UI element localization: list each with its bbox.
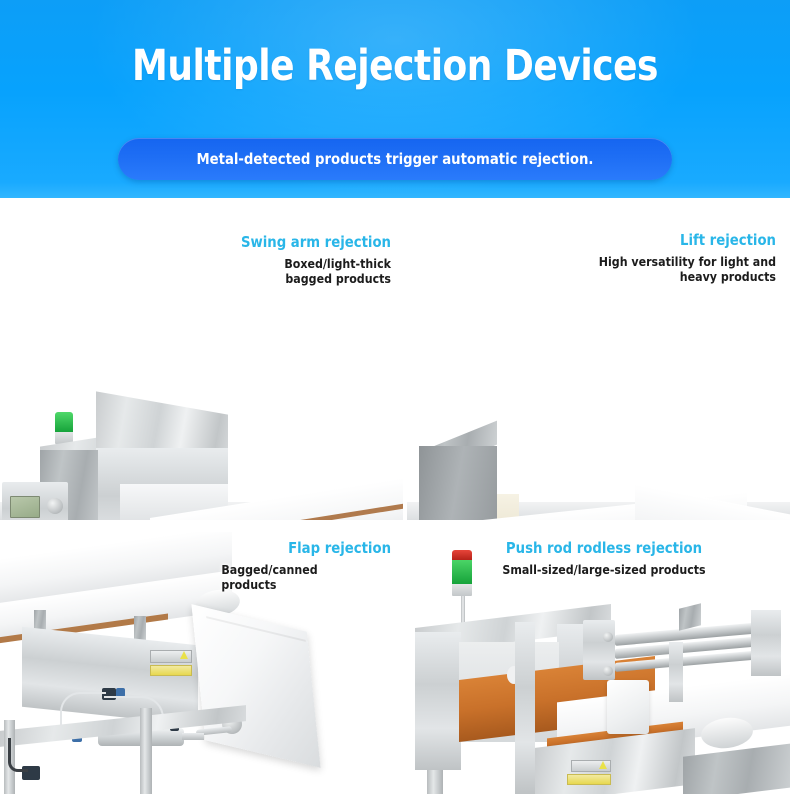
panel-caption-line-2: products bbox=[181, 578, 383, 594]
label-push-rod: Push rod rodless rejection Small-sized/l… bbox=[429, 540, 779, 578]
carriage-bolt-2 bbox=[603, 666, 613, 676]
signal-tower-green-light bbox=[55, 412, 73, 432]
label-swing-arm: Swing arm rejection Boxed/light-thick ba… bbox=[141, 234, 391, 288]
control-knob[interactable] bbox=[47, 498, 63, 514]
panel-heading: Lift rejection bbox=[491, 232, 776, 250]
signal-tower-base bbox=[452, 582, 472, 596]
product-feature-image: Multiple Rejection Devices Metal-detecte… bbox=[0, 0, 790, 794]
frame-leg bbox=[427, 770, 443, 794]
rail-end-bracket bbox=[751, 610, 781, 676]
panel-caption-line-2: bagged products bbox=[151, 272, 391, 288]
panel-heading: Flap rejection bbox=[192, 540, 392, 558]
detector-head-face bbox=[419, 446, 497, 520]
panel-caption-line-1: Bagged/canned bbox=[181, 563, 383, 579]
label-flap: Flap rejection Bagged/canned products bbox=[181, 540, 391, 594]
frame-upright-1 bbox=[515, 622, 535, 794]
panel-caption-line-1: High versatility for light and bbox=[488, 255, 776, 271]
panel-grid: Swing arm rejection Boxed/light-thick ba… bbox=[0, 198, 790, 794]
panel-caption-line-2: heavy products bbox=[488, 270, 776, 286]
label-lift: Lift rejection High versatility for ligh… bbox=[476, 232, 776, 286]
lcd-display bbox=[10, 496, 40, 518]
detector-left-column bbox=[415, 632, 461, 770]
panel-heading: Swing arm rejection bbox=[154, 234, 392, 252]
power-cable bbox=[8, 738, 28, 772]
subtitle-text: Metal-detected products trigger automati… bbox=[196, 150, 593, 168]
panel-lift: Lift rejection High versatility for ligh… bbox=[407, 198, 790, 520]
panel-caption-line-1: Small-sized/large-sized products bbox=[436, 563, 772, 579]
conveyor-base bbox=[683, 743, 790, 794]
subtitle-pill: Metal-detected products trigger automati… bbox=[118, 138, 672, 180]
panel-push-rod: Push rod rodless rejection Small-sized/l… bbox=[407, 532, 790, 794]
warning-label bbox=[567, 774, 611, 785]
page-title: Multiple Rejection Devices bbox=[28, 44, 763, 89]
header-banner: Multiple Rejection Devices Metal-detecte… bbox=[0, 0, 790, 198]
frame-leg-1 bbox=[140, 708, 152, 794]
pusher-plate bbox=[607, 680, 649, 734]
warning-label bbox=[150, 665, 192, 676]
panel-swing-arm: Swing arm rejection Boxed/light-thick ba… bbox=[0, 198, 403, 520]
frame-upright-2 bbox=[669, 642, 683, 702]
cylinder-rod bbox=[182, 733, 204, 740]
panel-caption-line-1: Boxed/light-thick bbox=[151, 257, 391, 273]
panel-heading: Push rod rodless rejection bbox=[438, 540, 771, 558]
carriage-bolt-1 bbox=[603, 632, 613, 642]
panel-flap: Flap rejection Bagged/canned products bbox=[0, 532, 403, 794]
